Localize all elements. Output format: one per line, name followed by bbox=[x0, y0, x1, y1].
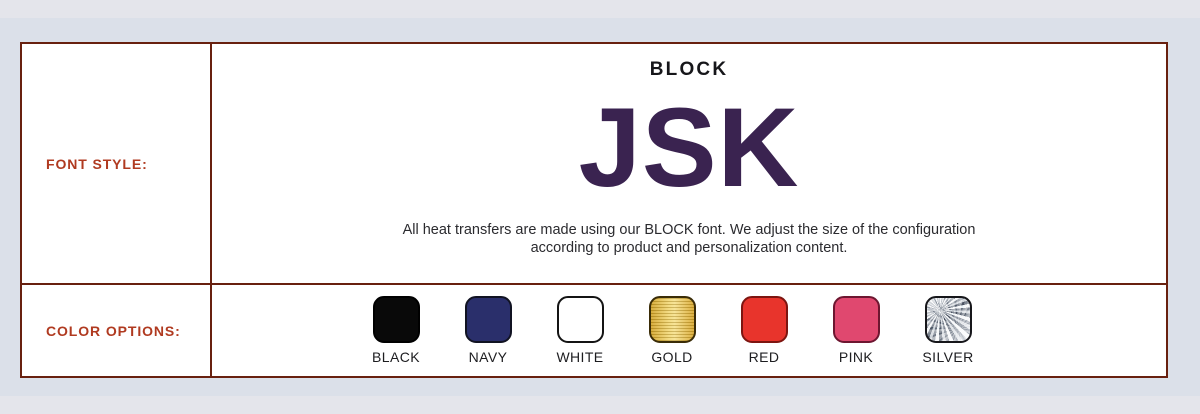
color-caption-navy: NAVY bbox=[469, 349, 508, 365]
color-chip-pink[interactable] bbox=[833, 296, 880, 343]
color-swatch-strip: BLACKNAVYWHITEGOLDREDPINKSILVER bbox=[212, 285, 1166, 376]
color-swatch-white[interactable]: WHITE bbox=[556, 296, 604, 365]
product-personalization-spec-panel: FONT STYLE: BLOCK JSK All heat transfers… bbox=[0, 0, 1200, 414]
color-caption-pink: PINK bbox=[839, 349, 873, 365]
color-chip-white[interactable] bbox=[557, 296, 604, 343]
font-style-content-cell: BLOCK JSK All heat transfers are made us… bbox=[212, 44, 1166, 283]
color-swatch-pink[interactable]: PINK bbox=[832, 296, 880, 365]
color-caption-white: WHITE bbox=[556, 349, 603, 365]
color-caption-gold: GOLD bbox=[651, 349, 692, 365]
color-options-content-cell: BLACKNAVYWHITEGOLDREDPINKSILVER bbox=[212, 285, 1166, 376]
color-caption-black: BLACK bbox=[372, 349, 420, 365]
color-swatch-silver[interactable]: SILVER bbox=[924, 296, 972, 365]
color-chip-silver[interactable] bbox=[925, 296, 972, 343]
color-chip-navy[interactable] bbox=[465, 296, 512, 343]
color-swatch-navy[interactable]: NAVY bbox=[464, 296, 512, 365]
spec-table: FONT STYLE: BLOCK JSK All heat transfers… bbox=[20, 42, 1168, 378]
font-sample-monogram: JSK bbox=[579, 89, 800, 207]
font-style-note: All heat transfers are made using our BL… bbox=[389, 221, 989, 257]
color-swatch-red[interactable]: RED bbox=[740, 296, 788, 365]
font-style-label-cell: FONT STYLE: bbox=[22, 44, 212, 283]
color-chip-red[interactable] bbox=[741, 296, 788, 343]
color-caption-red: RED bbox=[749, 349, 780, 365]
color-swatch-gold[interactable]: GOLD bbox=[648, 296, 696, 365]
color-swatch-black[interactable]: BLACK bbox=[372, 296, 420, 365]
font-preview: BLOCK JSK All heat transfers are made us… bbox=[212, 44, 1166, 283]
color-chip-gold[interactable] bbox=[649, 296, 696, 343]
font-style-label: FONT STYLE: bbox=[46, 156, 148, 172]
color-chip-black[interactable] bbox=[373, 296, 420, 343]
font-style-row: FONT STYLE: BLOCK JSK All heat transfers… bbox=[22, 44, 1166, 285]
color-options-label-cell: COLOR OPTIONS: bbox=[22, 285, 212, 376]
color-options-row: COLOR OPTIONS: BLACKNAVYWHITEGOLDREDPINK… bbox=[22, 285, 1166, 376]
color-caption-silver: SILVER bbox=[922, 349, 973, 365]
color-options-label: COLOR OPTIONS: bbox=[46, 323, 181, 339]
font-name-heading: BLOCK bbox=[650, 60, 729, 79]
